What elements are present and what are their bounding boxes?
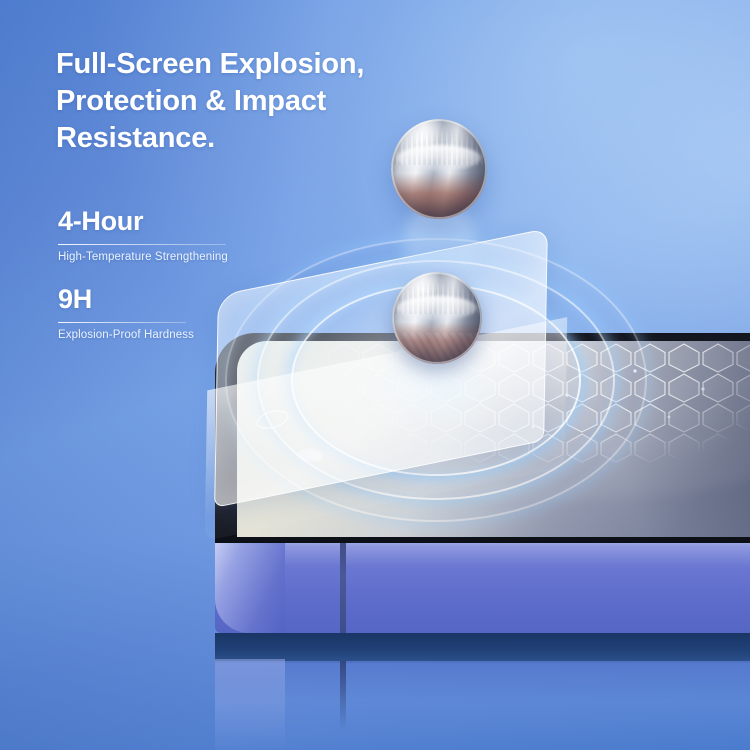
product-marketing-banner: Full-Screen Explosion, Protection & Impa… [0,0,750,750]
phone-frame-corner [215,531,285,633]
feature-label: Explosion-Proof Hardness [58,329,194,341]
phone-antenna-line [340,538,346,633]
feature-spec-9h: 9H Explosion-Proof Hardness [58,286,194,341]
steel-ball-falling-icon [391,119,487,219]
phone-reflection [215,633,750,750]
divider [58,322,186,323]
steel-ball-impact-icon [392,272,482,364]
feature-value: 4-Hour [58,208,228,235]
ball-rim-shading [391,119,487,219]
reflection-antenna-line [340,661,346,731]
ball-rim-shading [392,272,482,364]
reflection-contact-shadow [215,633,750,663]
divider [58,244,226,245]
feature-value: 9H [58,286,194,313]
reflection-body [215,661,750,750]
feature-spec-4-hour: 4-Hour High-Temperature Strengthening [58,208,228,263]
phone-metal-frame [215,538,750,633]
reflection-corner [215,659,285,750]
feature-label: High-Temperature Strengthening [58,251,228,263]
